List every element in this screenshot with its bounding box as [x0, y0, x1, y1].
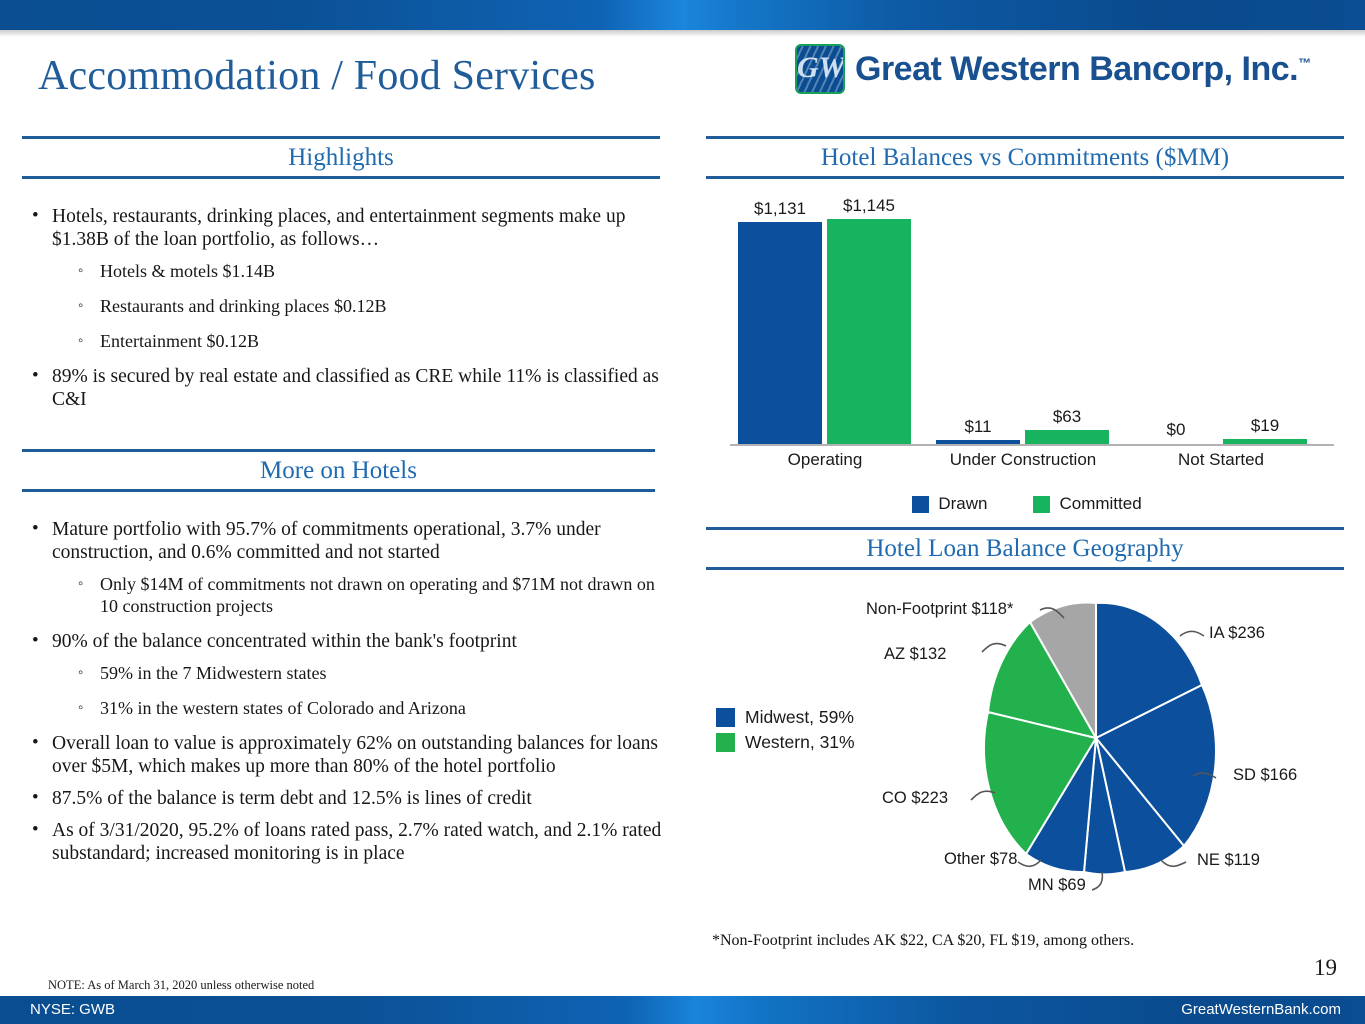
- bar-operating-drawn: $1,131: [738, 222, 822, 444]
- list-item: Hotels, restaurants, drinking places, an…: [22, 205, 662, 251]
- bar-chart-bottom-rule: [706, 176, 1344, 179]
- pie-chart-footnote: *Non-Footprint includes AK $22, CA $20, …: [712, 932, 1134, 950]
- leader-az: [982, 644, 1006, 652]
- list-item: 90% of the balance concentrated within t…: [22, 630, 662, 653]
- list-item: 89% is secured by real estate and classi…: [22, 365, 662, 411]
- list-item: Hotels & motels $1.14B: [22, 260, 662, 282]
- highlights-bottom-rule: [22, 176, 660, 179]
- bar-chart-x-axis: [730, 444, 1334, 446]
- trademark-symbol: ™: [1298, 55, 1311, 70]
- bar-value-label: $63: [1053, 407, 1081, 427]
- highlights-body: Hotels, restaurants, drinking places, an…: [22, 205, 662, 420]
- page-number: 19: [1314, 955, 1337, 981]
- category-label: Under Construction: [950, 450, 1096, 470]
- legend-label: Drawn: [938, 494, 987, 514]
- pie-label-az: AZ $132: [884, 645, 946, 664]
- bar-under-construction-drawn: $11: [936, 440, 1020, 444]
- legend-swatch-icon: [912, 496, 929, 513]
- pie-chart-title: Hotel Loan Balance Geography: [706, 530, 1344, 567]
- legend-label: Committed: [1059, 494, 1141, 514]
- bar-value-label: $1,131: [754, 199, 806, 219]
- logo-wordmark: Great Western Bancorp, Inc.™: [855, 50, 1311, 89]
- category-label: Operating: [788, 450, 863, 470]
- list-item: Entertainment $0.12B: [22, 330, 662, 352]
- list-item: 59% in the 7 Midwestern states: [22, 662, 662, 684]
- pie-label-other: Other $78: [944, 850, 1017, 869]
- pie-label-non-footprint: Non-Footprint $118*: [866, 600, 1013, 619]
- list-item: 87.5% of the balance is term debt and 12…: [22, 787, 662, 810]
- pie-label-co: CO $223: [882, 789, 948, 808]
- highlights-bullet-list: Hotels, restaurants, drinking places, an…: [22, 205, 662, 411]
- list-item: Restaurants and drinking places $0.12B: [22, 295, 662, 317]
- pie-slices: [984, 603, 1216, 875]
- page-title: Accommodation / Food Services: [38, 52, 596, 100]
- legend-item-drawn: Drawn: [912, 494, 987, 514]
- list-item: Only $14M of commitments not drawn on op…: [22, 573, 662, 617]
- website-label[interactable]: GreatWesternBank.com: [1181, 1001, 1341, 1018]
- company-logo: GW Great Western Bancorp, Inc.™: [795, 44, 1311, 94]
- gw-monogram-icon: GW: [795, 44, 845, 94]
- bar-chart-plot: $1,131 $1,145 $11 $63 $0 $19: [712, 196, 1342, 446]
- top-accent-band: [0, 0, 1365, 30]
- legend-item-committed: Committed: [1033, 494, 1141, 514]
- more-on-hotels-body: Mature portfolio with 95.7% of commitmen…: [22, 518, 662, 874]
- bar-not-started-committed: $19: [1223, 439, 1307, 444]
- logo-wordmark-text: Great Western Bancorp, Inc.: [855, 50, 1298, 88]
- bar-value-label: $11: [964, 417, 991, 437]
- category-label: Not Started: [1178, 450, 1264, 470]
- more-hotels-bottom-rule: [22, 489, 655, 492]
- more-hotels-bullet-list: Mature portfolio with 95.7% of commitmen…: [22, 518, 662, 865]
- pie-label-ne: NE $119: [1197, 851, 1260, 870]
- bar-chart-legend: Drawn Committed: [712, 494, 1342, 514]
- leader-ia: [1180, 631, 1204, 636]
- pie-label-mn: MN $69: [1028, 876, 1086, 895]
- bar-value-label: $0: [1167, 420, 1186, 440]
- logo-initials: GW: [797, 46, 843, 92]
- bar-operating-committed: $1,145: [827, 219, 911, 444]
- bar-not-started-drawn: $0: [1134, 443, 1218, 444]
- highlights-heading: Highlights: [22, 139, 660, 176]
- more-on-hotels-heading: More on Hotels: [22, 452, 655, 489]
- pie-label-sd: SD $166: [1233, 766, 1297, 785]
- list-item: Overall loan to value is approximately 6…: [22, 732, 662, 778]
- bar-under-construction-committed: $63: [1025, 430, 1109, 444]
- bar-chart-category-labels: Operating Under Construction Not Started: [712, 450, 1342, 480]
- hotel-balances-bar-chart: $1,131 $1,145 $11 $63 $0 $19 Operating U…: [712, 196, 1342, 514]
- list-item: As of 3/31/2020, 95.2% of loans rated pa…: [22, 819, 662, 865]
- bar-chart-header: Hotel Balances vs Commitments ($MM): [706, 136, 1344, 179]
- ticker-label: NYSE: GWB: [30, 1001, 115, 1018]
- slide-note: NOTE: As of March 31, 2020 unless otherw…: [48, 978, 314, 993]
- list-item: 31% in the western states of Colorado an…: [22, 697, 662, 719]
- pie-chart-header: Hotel Loan Balance Geography: [706, 527, 1344, 570]
- highlights-section: Highlights: [22, 136, 660, 179]
- hotel-loan-geography-pie-chart: Midwest, 59% Western, 31%: [706, 588, 1346, 918]
- bottom-bar: NYSE: GWB GreatWesternBank.com: [0, 996, 1365, 1024]
- pie-chart-bottom-rule: [706, 567, 1344, 570]
- bar-value-label: $19: [1251, 416, 1279, 436]
- legend-swatch-icon: [1033, 496, 1050, 513]
- list-item: Mature portfolio with 95.7% of commitmen…: [22, 518, 662, 564]
- bar-value-label: $1,145: [843, 196, 895, 216]
- pie-label-ia: IA $236: [1209, 624, 1265, 643]
- bar-chart-title: Hotel Balances vs Commitments ($MM): [706, 139, 1344, 176]
- more-on-hotels-section: More on Hotels: [22, 449, 655, 492]
